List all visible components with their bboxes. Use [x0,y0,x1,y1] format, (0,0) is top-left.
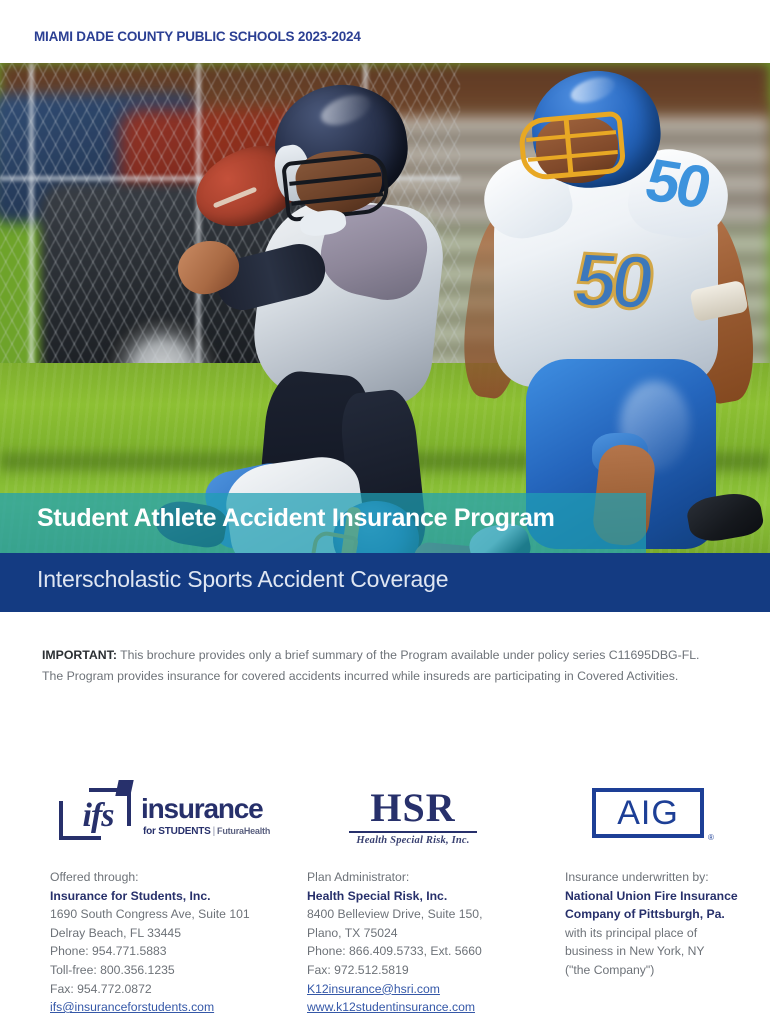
aig-lead: Insurance underwritten by: [565,868,770,887]
hsr-address-line: 8400 Belleview Drive, Suite 150, [307,905,557,924]
footer-column-aig: AIG ® Insurance underwritten by: Nationa… [565,780,770,980]
hsr-tagline: Health Special Risk, Inc. [333,834,493,848]
aig-contact-block: Insurance underwritten by: National Unio… [565,868,770,980]
hsr-logo: HSR Health Special Risk, Inc. [333,786,493,848]
ifs-fax: Fax: 954.772.0872 [50,980,300,999]
aig-company-name-line-1: National Union Fire Insurance [565,887,770,906]
ifs-lead: Offered through: [50,868,300,887]
hsr-monogram: HSR [333,786,493,830]
ifs-phone: Phone: 954.771.5883 [50,942,300,961]
ifs-logo: ifs insurance for STUDENTS|FuturaHealth [59,788,279,844]
footer-column-ifs: ifs insurance for STUDENTS|FuturaHealth … [50,780,300,1017]
ifs-wordmark: insurance [141,794,262,824]
program-title: Student Athlete Accident Insurance Progr… [37,504,555,533]
hsr-underline [349,831,477,833]
important-label: IMPORTANT: [42,648,117,662]
ifs-tagline-primary: for STUDENTS [143,826,211,837]
hero-photo: 50 50 [0,63,770,553]
aig-wordmark: AIG [592,788,704,838]
hsr-contact-block: Plan Administrator: Health Special Risk,… [307,868,557,1017]
fence-post [28,63,35,393]
aig-logo: AIG ® [592,788,716,840]
hsr-website-link[interactable]: www.k12studentinsurance.com [307,998,557,1017]
important-line-2: The Program provides insurance for cover… [42,669,678,683]
hsr-lead: Plan Administrator: [307,868,557,887]
aig-company-name-line-2: Company of Pittsburgh, Pa. [565,905,770,924]
hsr-company-name: Health Special Risk, Inc. [307,887,557,906]
ifs-email-link[interactable]: ifs@insuranceforstudents.com [50,998,300,1017]
program-subtitle: Interscholastic Sports Accident Coverage [37,566,448,593]
aig-detail-line: ("the Company") [565,961,770,980]
footer-column-hsr: HSR Health Special Risk, Inc. Plan Admin… [307,780,557,1017]
ifs-logo-area: ifs insurance for STUDENTS|FuturaHealth [50,780,300,858]
page-header-title: MIAMI DADE COUNTY PUBLIC SCHOOLS 2023-20… [34,29,361,44]
ifs-address-line: Delray Beach, FL 33445 [50,924,300,943]
brochure-page: MIAMI DADE COUNTY PUBLIC SCHOOLS 2023-20… [0,0,770,1024]
hsr-phone: Phone: 866.409.5733, Ext. 5660 [307,942,557,961]
ifs-company-name: Insurance for Students, Inc. [50,887,300,906]
ifs-tollfree: Toll-free: 800.356.1235 [50,961,300,980]
ifs-contact-block: Offered through: Insurance for Students,… [50,868,300,1017]
aig-registered-mark: ® [708,834,714,842]
hsr-address-line: Plano, TX 75024 [307,924,557,943]
ifs-tagline: for STUDENTS|FuturaHealth [143,825,270,838]
hsr-fax: Fax: 972.512.5819 [307,961,557,980]
aig-logo-area: AIG ® [565,780,770,858]
hsr-email-link[interactable]: K12insurance@hsri.com [307,980,557,999]
ifs-address-line: 1690 South Congress Ave, Suite 101 [50,905,300,924]
aig-detail-line: business in New York, NY [565,942,770,961]
hsr-logo-area: HSR Health Special Risk, Inc. [307,780,557,858]
aig-detail-line: with its principal place of [565,924,770,943]
jersey-chest-number: 50 [545,236,678,328]
important-line-1: This brochure provides only a brief summ… [117,648,700,662]
important-notice: IMPORTANT: This brochure provides only a… [42,645,732,687]
ifs-monogram: ifs [65,794,131,838]
footer-columns: ifs insurance for STUDENTS|FuturaHealth … [0,780,770,1010]
ifs-tagline-secondary: FuturaHealth [217,826,270,836]
